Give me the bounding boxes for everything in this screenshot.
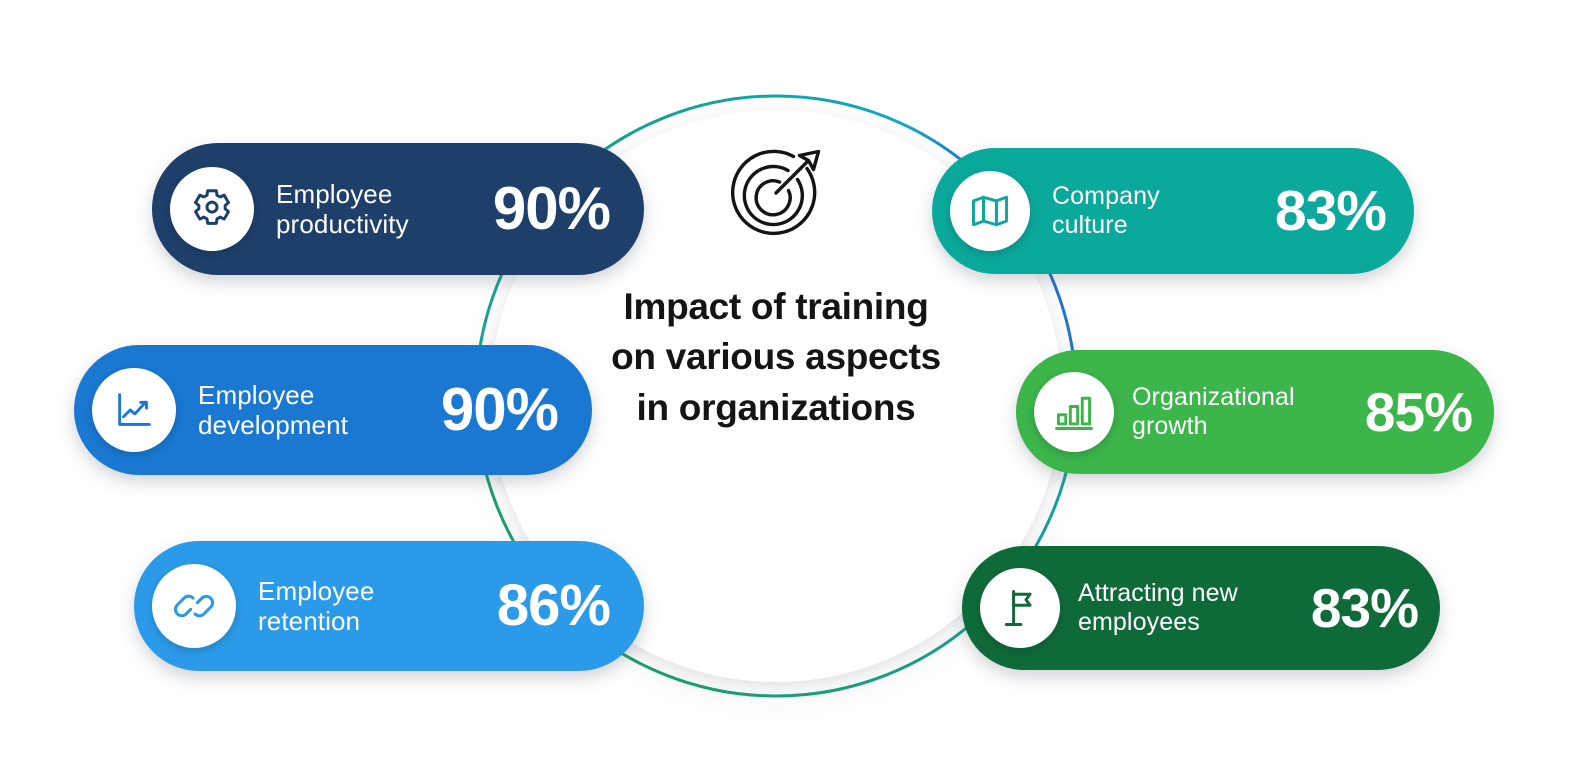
flag-icon (998, 586, 1042, 630)
map-icon (968, 189, 1012, 233)
stat-label: Employee productivity (276, 179, 409, 240)
stat-label: Organizational growth (1132, 383, 1295, 442)
line-chart-icon-badge (92, 368, 176, 452)
gear-icon-badge (170, 167, 254, 251)
flag-icon-badge (980, 568, 1060, 648)
line-chart-icon (111, 387, 157, 433)
stat-label: Attracting new employees (1078, 579, 1238, 638)
stat-value: 90% (441, 380, 558, 440)
center-content: Impact of training on various aspects in… (606, 130, 946, 590)
stat-value: 86% (497, 577, 610, 635)
infographic-canvas: Impact of training on various aspects in… (0, 0, 1592, 766)
stat-value: 83% (1311, 581, 1418, 636)
target-arrow-icon (721, 138, 831, 248)
gear-icon (189, 186, 235, 232)
bar-chart-icon (1052, 390, 1096, 434)
stat-value: 83% (1275, 183, 1386, 240)
stat-pill-organizational-growth[interactable]: Organizational growth 85% (1016, 350, 1494, 474)
stat-pill-employee-retention[interactable]: Employee retention 86% (134, 541, 644, 671)
stat-label: Company culture (1052, 182, 1160, 241)
stat-pill-company-culture[interactable]: Company culture 83% (932, 148, 1414, 274)
stat-label: Employee development (198, 380, 348, 441)
map-icon-badge (950, 171, 1030, 251)
stat-value: 85% (1365, 385, 1472, 440)
stat-pill-employee-productivity[interactable]: Employee productivity 90% (152, 143, 644, 275)
stat-pill-employee-development[interactable]: Employee development 90% (74, 345, 592, 475)
link-chain-icon-badge (152, 564, 236, 648)
link-chain-icon (171, 583, 217, 629)
stat-pill-attracting-new-employees[interactable]: Attracting new employees 83% (962, 546, 1440, 670)
stat-label: Employee retention (258, 576, 374, 637)
bar-chart-icon-badge (1034, 372, 1114, 452)
stat-value: 90% (493, 179, 610, 239)
page-title: Impact of training on various aspects in… (611, 282, 941, 433)
